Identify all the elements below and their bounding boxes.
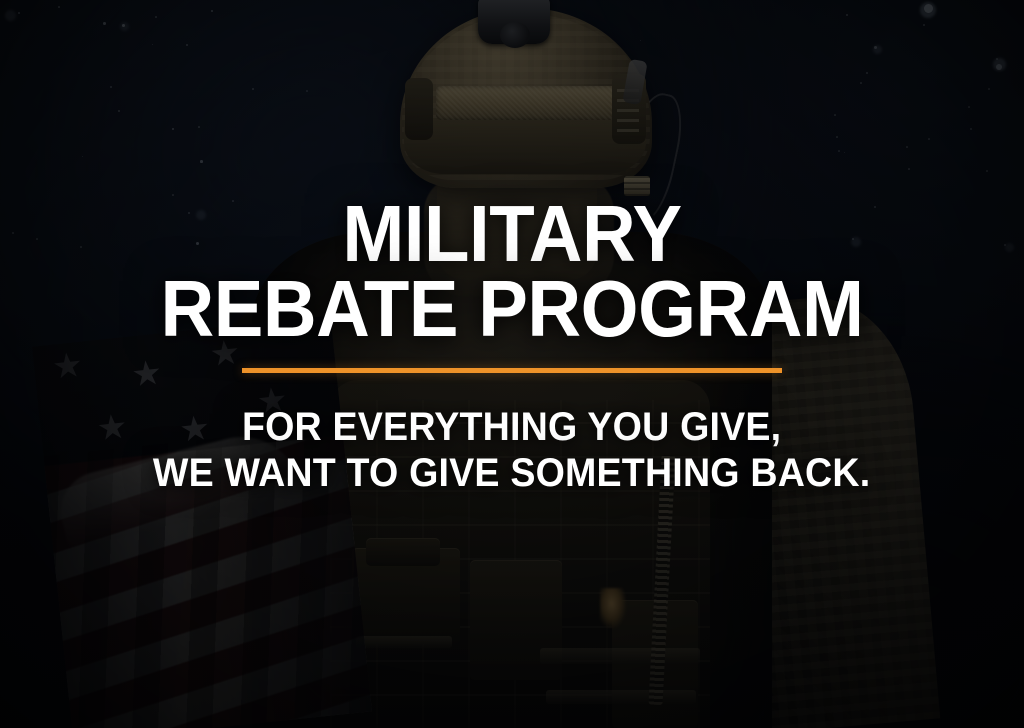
headline-line-2: REBATE PROGRAM	[160, 271, 863, 346]
banner-content: MILITARY REBATE PROGRAM FOR EVERYTHING Y…	[0, 0, 1024, 728]
subtitle: FOR EVERYTHING YOU GIVE, WE WANT TO GIVE…	[153, 405, 870, 496]
military-rebate-banner: ★ ★ ★ ★ ★ ★ MILITARY REBATE PROGRAM FOR …	[0, 0, 1024, 728]
page-title: MILITARY REBATE PROGRAM	[160, 0, 863, 346]
subtitle-line-1: FOR EVERYTHING YOU GIVE,	[242, 405, 781, 449]
accent-divider	[242, 368, 782, 373]
headline-line-1: MILITARY	[160, 196, 863, 271]
subtitle-line-2: WE WANT TO GIVE SOMETHING BACK.	[153, 451, 870, 497]
